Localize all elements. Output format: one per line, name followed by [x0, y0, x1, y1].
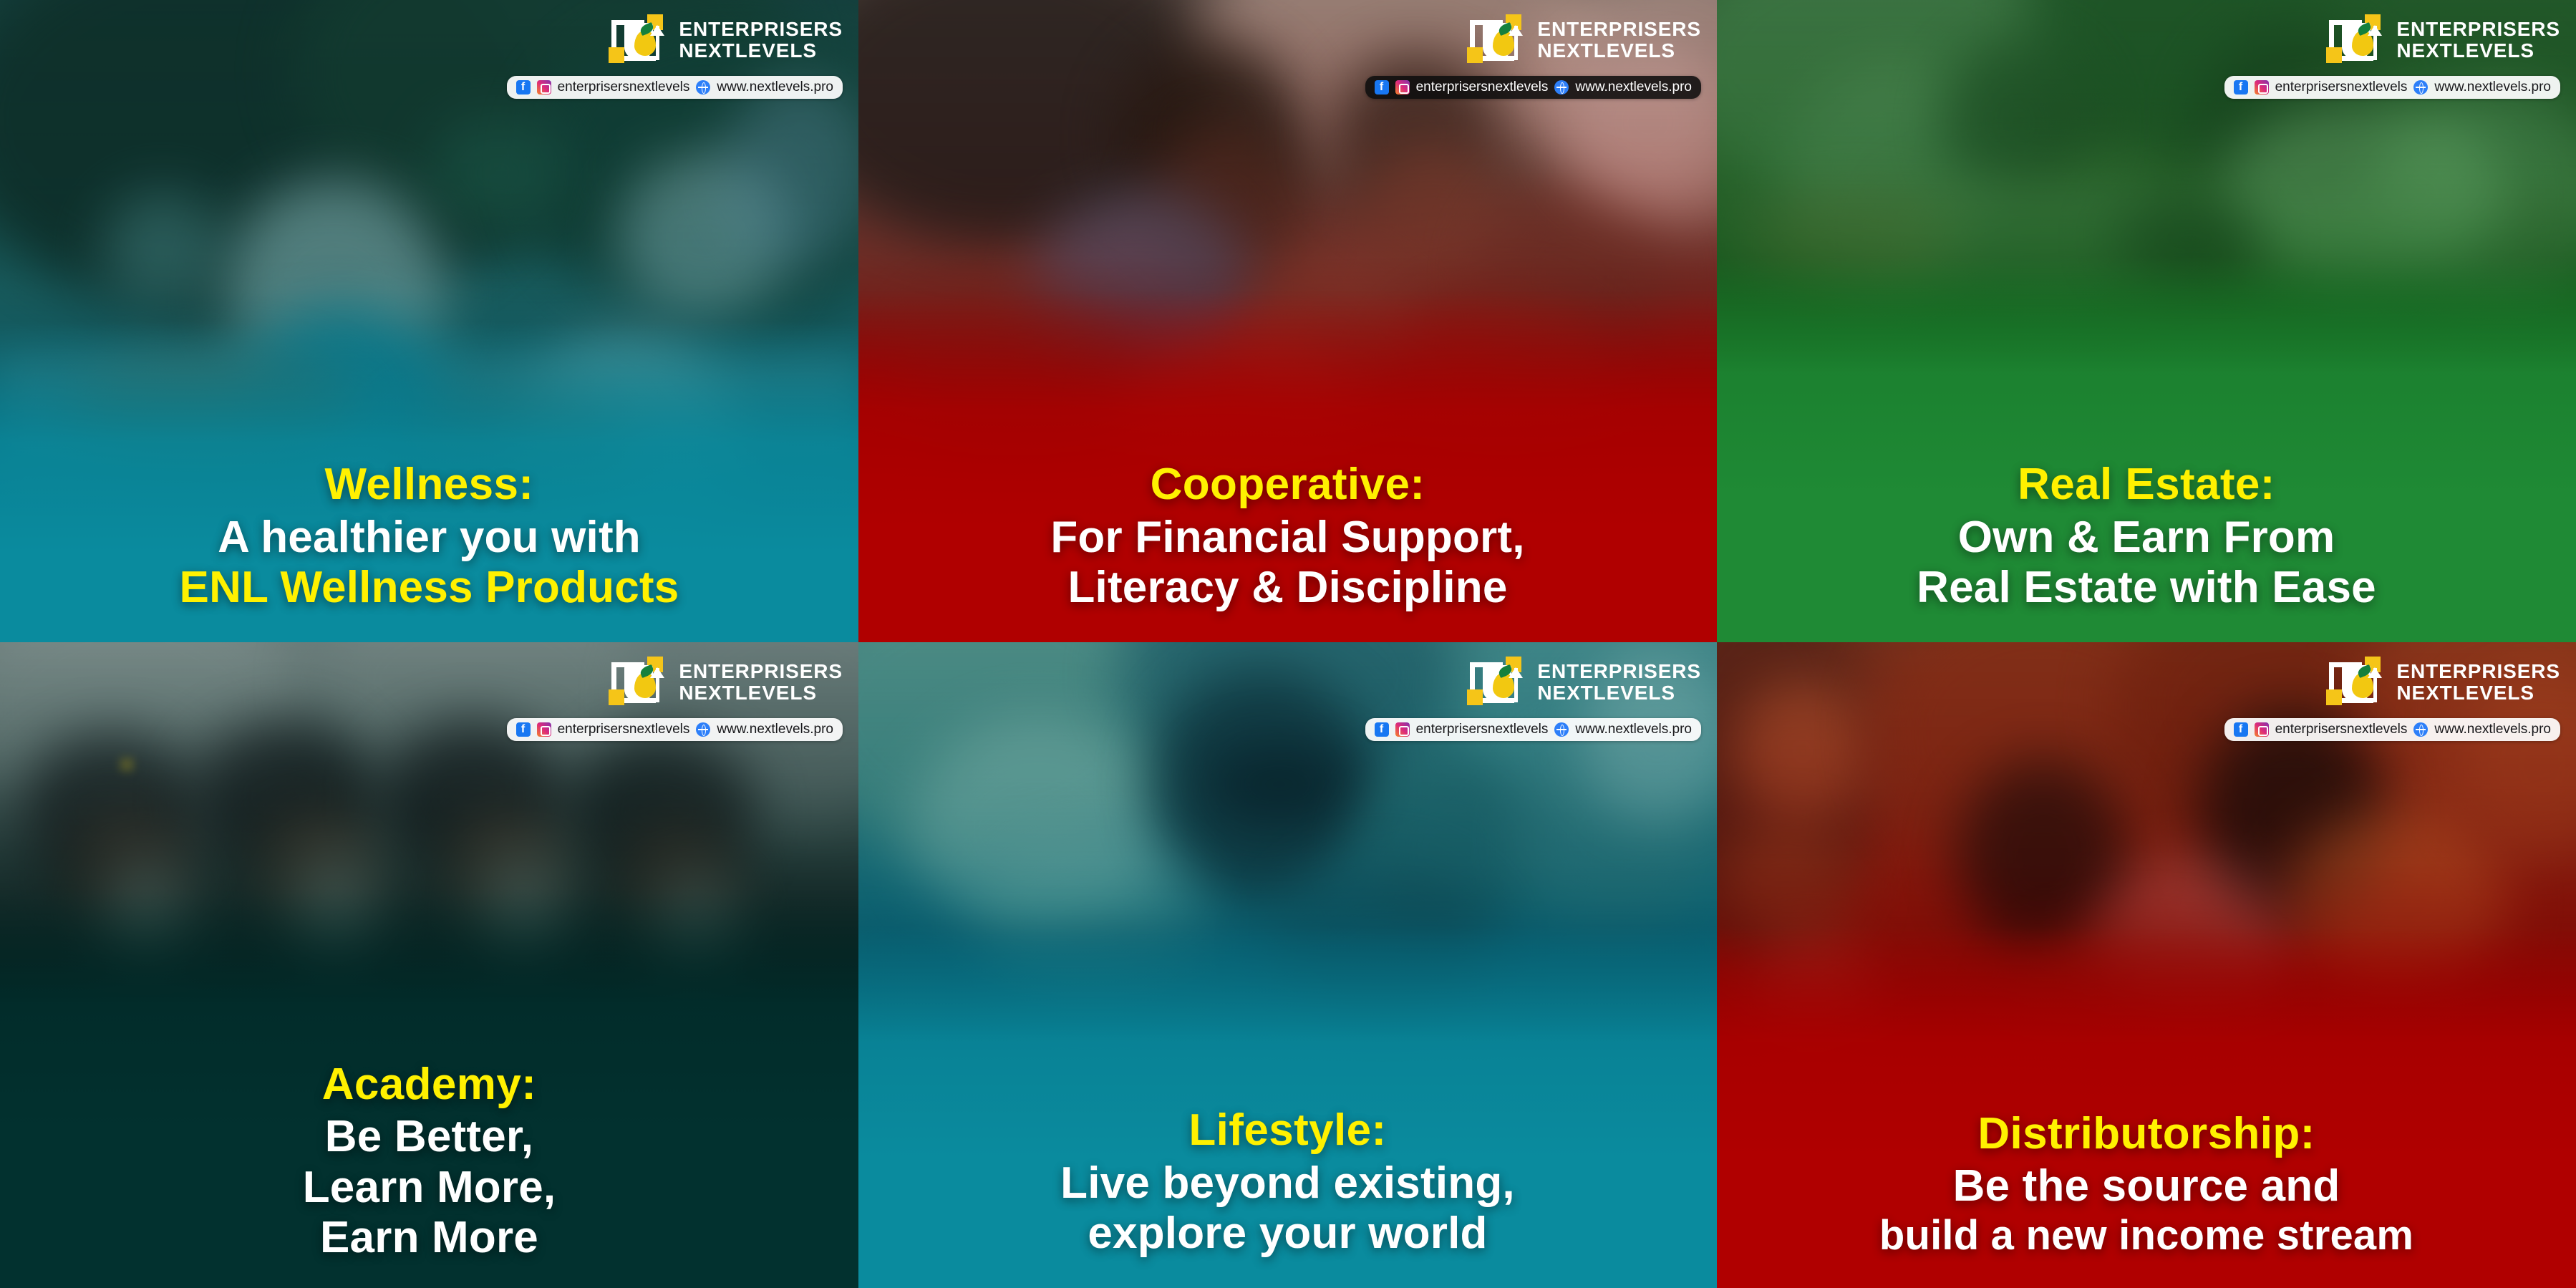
globe-icon[interactable]: [1554, 80, 1569, 95]
enterprisers-logo-mark-icon: [2323, 652, 2386, 712]
logo-badge[interactable]: ENTERPRISERS NEXTLEVELS enterprisersnext…: [2224, 10, 2560, 99]
globe-icon[interactable]: [2413, 722, 2428, 737]
logo-wordmark-line1: ENTERPRISERS: [1537, 661, 1701, 682]
facebook-icon[interactable]: [1375, 722, 1389, 737]
caption-title: Wellness:: [24, 460, 834, 509]
social-handle-bar[interactable]: enterprisersnextlevels www.nextlevels.pr…: [507, 718, 843, 741]
logo-wordmark-line1: ENTERPRISERS: [1537, 19, 1701, 40]
instagram-icon[interactable]: [2255, 80, 2269, 95]
caption-line-1: A healthier you with: [24, 513, 834, 563]
logo-wordmark-line2: NEXTLEVELS: [679, 40, 843, 62]
caption-academy: Academy: Be Better, Learn More, Earn Mor…: [0, 1060, 858, 1288]
caption-line-1: For Financial Support,: [883, 513, 1693, 563]
logo-badge[interactable]: ENTERPRISERS NEXTLEVELS enterprisersnext…: [507, 652, 843, 741]
instagram-icon[interactable]: [1395, 722, 1410, 737]
logo-wordmark: ENTERPRISERS NEXTLEVELS: [679, 661, 843, 703]
panel-lifestyle[interactable]: ENTERPRISERS NEXTLEVELS enterprisersnext…: [858, 642, 1717, 1288]
logo-wordmark: ENTERPRISERS NEXTLEVELS: [1537, 661, 1701, 703]
instagram-icon[interactable]: [1395, 80, 1410, 95]
website-text: www.nextlevels.pro: [1575, 722, 1692, 737]
caption-line-2: Real Estate with Ease: [1741, 563, 2552, 614]
social-handle-bar[interactable]: enterprisersnextlevels www.nextlevels.pr…: [507, 76, 843, 99]
instagram-icon[interactable]: [2255, 722, 2269, 737]
caption-title: Real Estate:: [1741, 460, 2552, 509]
logo-row: ENTERPRISERS NEXTLEVELS: [2323, 10, 2560, 70]
caption-line-2: ENL Wellness Products: [24, 563, 834, 614]
caption-line-1: Own & Earn From: [1741, 513, 2552, 563]
logo-row: ENTERPRISERS NEXTLEVELS: [1464, 652, 1701, 712]
logo-wordmark-line2: NEXTLEVELS: [1537, 682, 1701, 704]
logo-wordmark-line2: NEXTLEVELS: [2396, 682, 2560, 704]
logo-wordmark: ENTERPRISERS NEXTLEVELS: [679, 19, 843, 61]
logo-row: ENTERPRISERS NEXTLEVELS: [606, 652, 843, 712]
facebook-icon[interactable]: [1375, 80, 1389, 95]
social-handle-text: enterprisersnextlevels: [558, 722, 690, 737]
logo-wordmark-line2: NEXTLEVELS: [1537, 40, 1701, 62]
website-text: www.nextlevels.pro: [2434, 722, 2551, 737]
caption-line-2: Literacy & Discipline: [883, 563, 1693, 614]
panel-wellness[interactable]: ENTERPRISERS NEXTLEVELS enterprisersnext…: [0, 0, 858, 642]
caption-line-2: explore your world: [883, 1209, 1693, 1259]
social-handle-bar[interactable]: enterprisersnextlevels www.nextlevels.pr…: [1365, 76, 1701, 99]
logo-wordmark-line1: ENTERPRISERS: [2396, 19, 2560, 40]
caption-line-2: build a new income stream: [1741, 1212, 2552, 1259]
enterprisers-logo-mark-icon: [1464, 652, 1527, 712]
enterprisers-logo-mark-icon: [2323, 10, 2386, 70]
social-handle-text: enterprisersnextlevels: [2275, 722, 2408, 737]
social-handle-bar[interactable]: enterprisersnextlevels www.nextlevels.pr…: [1365, 718, 1701, 741]
website-text: www.nextlevels.pro: [2434, 79, 2551, 95]
caption-line-1: Live beyond existing,: [883, 1158, 1693, 1209]
facebook-icon[interactable]: [516, 80, 531, 95]
caption-line-2: Learn More,: [24, 1163, 834, 1214]
globe-icon[interactable]: [696, 722, 710, 737]
caption-distributorship: Distributorship: Be the source and build…: [1717, 1109, 2576, 1288]
facebook-icon[interactable]: [2234, 80, 2248, 95]
caption-title: Cooperative:: [883, 460, 1693, 509]
globe-icon[interactable]: [2413, 80, 2428, 95]
caption-lifestyle: Lifestyle: Live beyond existing, explore…: [858, 1105, 1717, 1288]
logo-badge[interactable]: ENTERPRISERS NEXTLEVELS enterprisersnext…: [507, 10, 843, 99]
social-handle-text: enterprisersnextlevels: [1416, 722, 1549, 737]
instagram-icon[interactable]: [537, 722, 551, 737]
logo-badge[interactable]: ENTERPRISERS NEXTLEVELS enterprisersnext…: [2224, 652, 2560, 741]
caption-cooperative: Cooperative: For Financial Support, Lite…: [858, 460, 1717, 642]
panel-cooperative[interactable]: ENTERPRISERS NEXTLEVELS enterprisersnext…: [858, 0, 1717, 642]
caption-title: Academy:: [24, 1060, 834, 1109]
social-handle-text: enterprisersnextlevels: [558, 79, 690, 95]
panel-real-estate[interactable]: ENTERPRISERS NEXTLEVELS enterprisersnext…: [1717, 0, 2576, 642]
enterprisers-logo-mark-icon: [606, 652, 669, 712]
logo-wordmark-line2: NEXTLEVELS: [2396, 40, 2560, 62]
social-handle-text: enterprisersnextlevels: [2275, 79, 2408, 95]
logo-badge[interactable]: ENTERPRISERS NEXTLEVELS enterprisersnext…: [1365, 652, 1701, 741]
logo-wordmark: ENTERPRISERS NEXTLEVELS: [2396, 661, 2560, 703]
logo-wordmark: ENTERPRISERS NEXTLEVELS: [1537, 19, 1701, 61]
website-text: www.nextlevels.pro: [717, 79, 833, 95]
social-handle-bar[interactable]: enterprisersnextlevels www.nextlevels.pr…: [2224, 76, 2560, 99]
caption-line-1: Be the source and: [1741, 1161, 2552, 1212]
logo-wordmark-line1: ENTERPRISERS: [679, 19, 843, 40]
social-handle-text: enterprisersnextlevels: [1416, 79, 1549, 95]
logo-wordmark-line1: ENTERPRISERS: [679, 661, 843, 682]
globe-icon[interactable]: [1554, 722, 1569, 737]
social-handle-bar[interactable]: enterprisersnextlevels www.nextlevels.pr…: [2224, 718, 2560, 741]
caption-wellness: Wellness: A healthier you with ENL Welln…: [0, 460, 858, 642]
instagram-icon[interactable]: [537, 80, 551, 95]
facebook-icon[interactable]: [2234, 722, 2248, 737]
logo-row: ENTERPRISERS NEXTLEVELS: [2323, 652, 2560, 712]
website-text: www.nextlevels.pro: [1575, 79, 1692, 95]
caption-title: Distributorship:: [1741, 1109, 2552, 1158]
website-text: www.nextlevels.pro: [717, 722, 833, 737]
logo-wordmark-line2: NEXTLEVELS: [679, 682, 843, 704]
caption-line-1: Be Better,: [24, 1112, 834, 1163]
logo-wordmark: ENTERPRISERS NEXTLEVELS: [2396, 19, 2560, 61]
logo-badge[interactable]: ENTERPRISERS NEXTLEVELS enterprisersnext…: [1365, 10, 1701, 99]
globe-icon[interactable]: [696, 80, 710, 95]
caption-real-estate: Real Estate: Own & Earn From Real Estate…: [1717, 460, 2576, 642]
service-panel-grid: ENTERPRISERS NEXTLEVELS enterprisersnext…: [0, 0, 2576, 1288]
panel-distributorship[interactable]: ENTERPRISERS NEXTLEVELS enterprisersnext…: [1717, 642, 2576, 1288]
caption-line-3: Earn More: [24, 1213, 834, 1264]
logo-wordmark-line1: ENTERPRISERS: [2396, 661, 2560, 682]
caption-title: Lifestyle:: [883, 1105, 1693, 1155]
enterprisers-logo-mark-icon: [606, 10, 669, 70]
logo-row: ENTERPRISERS NEXTLEVELS: [606, 10, 843, 70]
facebook-icon[interactable]: [516, 722, 531, 737]
panel-academy[interactable]: ENTERPRISERS NEXTLEVELS enterprisersnext…: [0, 642, 858, 1288]
logo-row: ENTERPRISERS NEXTLEVELS: [1464, 10, 1701, 70]
enterprisers-logo-mark-icon: [1464, 10, 1527, 70]
